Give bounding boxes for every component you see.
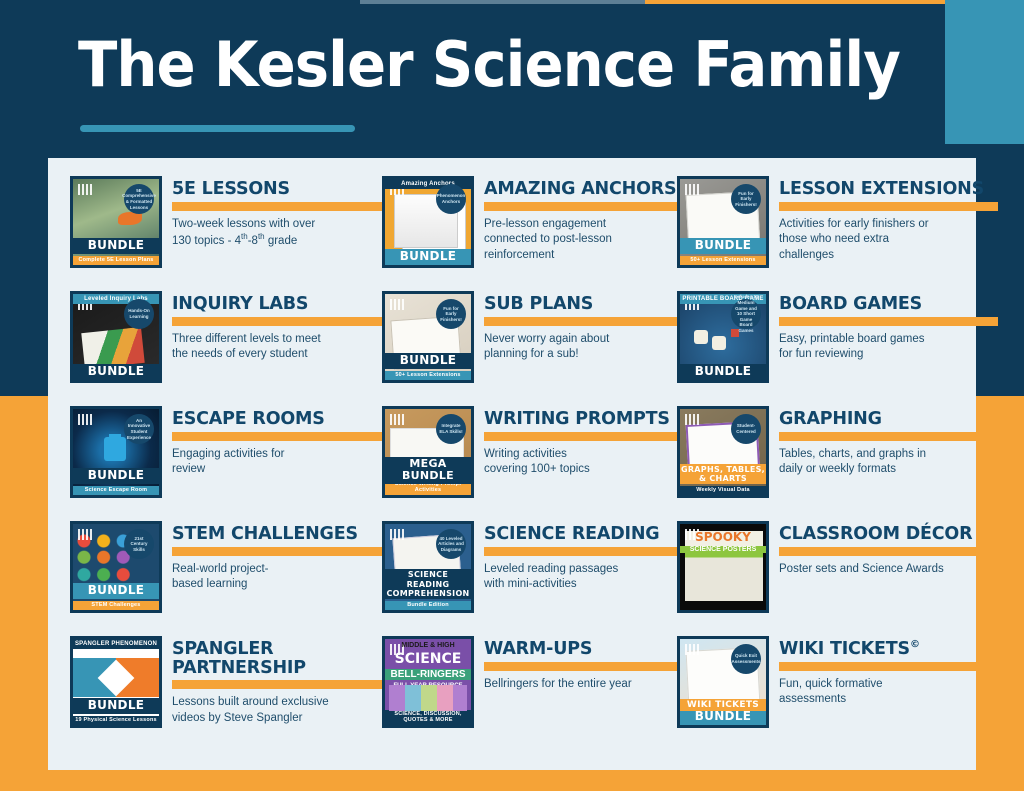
diamond-shape-icon: [98, 659, 135, 696]
product-item[interactable]: Integrate ELA Skills!Science Writing Pro…: [382, 406, 677, 521]
warmup-line-1: MIDDLE & HIGH: [385, 642, 471, 649]
thumbnail-badge: An Innovative Student Experience: [124, 414, 154, 444]
product-item[interactable]: 5E Comprehensive & Formatted LessonsComp…: [70, 176, 382, 291]
product-thumbnail[interactable]: Amazing AnchorsPhenomenon AnchorsBUNDLE: [382, 176, 474, 268]
product-title-rule: [484, 662, 677, 671]
product-item[interactable]: PRINTABLE BOARD GAMEIncludes 10 Medium G…: [677, 291, 998, 406]
kesler-logo-icon: [78, 184, 94, 195]
product-title-rule: [484, 202, 677, 211]
thumbnail-banner: BUNDLE: [385, 249, 471, 265]
product-title-rule: [779, 662, 998, 671]
product-thumbnail[interactable]: Fun for Early Finishers!50+ Lesson Exten…: [677, 176, 769, 268]
product-title: 5E LESSONS: [172, 180, 382, 199]
product-text: WIKI TICKETS©Fun, quick formativeassessm…: [769, 636, 998, 708]
poster-header: The Kesler Science Family: [0, 0, 1024, 158]
product-title: LESSON EXTENSIONS: [779, 180, 998, 199]
product-text: SUB PLANSNever worry again aboutplanning…: [474, 291, 677, 363]
product-thumbnail[interactable]: Fun for Early Finishers!50+ Lesson Exten…: [382, 291, 474, 383]
product-title-rule: [172, 317, 382, 326]
product-item[interactable]: An Innovative Student ExperienceScience …: [70, 406, 382, 521]
product-item[interactable]: Fun for Early Finishers!50+ Lesson Exten…: [677, 176, 998, 291]
kesler-logo-icon: [685, 644, 701, 655]
thumbnail-badge: 21st Century Skills: [124, 529, 154, 559]
products-grid: 5E Comprehensive & Formatted LessonsComp…: [48, 158, 976, 770]
product-item[interactable]: 21st Century SkillsSTEM ChallengesBUNDLE…: [70, 521, 382, 636]
product-item[interactable]: 40 Leveled Articles and DiagramsBundle E…: [382, 521, 677, 636]
thumbnail-banner: BUNDLE: [73, 238, 159, 254]
product-description: Two-week lessons with over130 topics - 4…: [172, 217, 382, 250]
thumbnail-banner: MEGA BUNDLE: [385, 457, 471, 484]
kesler-logo-icon: [685, 184, 701, 195]
products-card: 5E Comprehensive & Formatted LessonsComp…: [48, 158, 976, 770]
product-title: BOARD GAMES: [779, 295, 998, 314]
product-description: Poster sets and Science Awards: [779, 562, 998, 578]
thumbnail-sub-banner: SCIENCE, DISCUSSION, QUOTES & MORE: [385, 710, 471, 725]
thumbnail-badge: Phenomenon Anchors: [436, 184, 466, 214]
thumbnail-banner: BUNDLE: [680, 364, 766, 380]
thumbnail-banner: BUNDLE: [73, 583, 159, 599]
thumbnail-sub-banner: STEM Challenges: [73, 601, 159, 610]
thumbnail-badge: Quick Exit Assessments: [731, 644, 761, 674]
product-title-rule: [484, 432, 677, 441]
product-thumbnail[interactable]: Integrate ELA Skills!Science Writing Pro…: [382, 406, 474, 498]
thumbnail-banner: BUNDLE: [680, 709, 766, 725]
product-title-rule: [779, 547, 998, 556]
product-title-rule: [779, 432, 998, 441]
product-title-rule: [779, 202, 998, 211]
product-title-rule: [172, 547, 382, 556]
product-title: INQUIRY LABS: [172, 295, 382, 314]
product-description: Fun, quick formativeassessments: [779, 677, 998, 708]
thumbnail-badge: Student-Centered: [731, 414, 761, 444]
product-description: Real-world project-based learning: [172, 562, 382, 593]
thumbnail-badge: Includes 10 Medium Game and 10 Short Gam…: [731, 299, 761, 329]
product-title: ESCAPE ROOMS: [172, 410, 382, 429]
product-thumbnail[interactable]: 21st Century SkillsSTEM ChallengesBUNDLE: [70, 521, 162, 613]
thumbnail-sub-banner: Science Escape Room: [73, 486, 159, 495]
product-text: 5E LESSONSTwo-week lessons with over130 …: [162, 176, 382, 249]
decor-subtitle-text: SCIENCE POSTERS: [680, 546, 766, 553]
page-title: The Kesler Science Family: [78, 34, 887, 96]
thumbnail-sub-banner: 19 Physical Science Lessons: [73, 716, 159, 725]
product-text: WRITING PROMPTSWriting activitiescoverin…: [474, 406, 677, 478]
kesler-logo-icon: [685, 414, 701, 425]
warmup-preview-strip: [389, 685, 467, 711]
thumbnail-sub-banner: 50+ Lesson Extensions: [680, 256, 766, 265]
thumbnail-sub-banner: Bundle Edition: [385, 601, 471, 610]
thumbnail-top-label: SPANGLER PHENOMENON: [73, 639, 159, 649]
title-underline: [80, 125, 355, 132]
product-text: LESSON EXTENSIONSActivities for early fi…: [769, 176, 998, 263]
product-description: Pre-lesson engagementconnected to post-l…: [484, 217, 677, 264]
product-title: WARM-UPS: [484, 640, 677, 659]
product-description: Bellringers for the entire year: [484, 677, 677, 693]
product-thumbnail[interactable]: Student-CenteredWeekly Visual DataGRAPHS…: [677, 406, 769, 498]
product-description: Lessons built around exclusivevideos by …: [172, 695, 382, 726]
thumbnail-sub-banner: Weekly Visual Data: [680, 486, 766, 495]
product-title-rule: [172, 202, 382, 211]
thumbnail-banner: BUNDLE: [73, 698, 159, 714]
product-title-rule: [484, 547, 677, 556]
product-title: CLASSROOM DÉCOR: [779, 525, 998, 544]
product-text: GRAPHINGTables, charts, and graphs indai…: [769, 406, 998, 478]
product-thumbnail[interactable]: SPANGLER PHENOMENON19 Physical Science L…: [70, 636, 162, 728]
thumbnail-banner: BUNDLE: [385, 353, 471, 369]
product-title: SUB PLANS: [484, 295, 677, 314]
product-item[interactable]: Leveled Inquiry LabsHands-On LearningBUN…: [70, 291, 382, 406]
thumbnail-banner: BUNDLE: [680, 238, 766, 254]
product-text: WARM-UPSBellringers for the entire year: [474, 636, 677, 692]
product-title-rule: [172, 432, 382, 441]
product-item[interactable]: MIDDLE & HIGHSCIENCEBELL-RINGERSFULL YEA…: [382, 636, 677, 751]
product-title: STEM CHALLENGES: [172, 525, 382, 544]
product-item[interactable]: Student-CenteredWeekly Visual DataGRAPHS…: [677, 406, 998, 521]
product-text: CLASSROOM DÉCORPoster sets and Science A…: [769, 521, 998, 577]
thumbnail-banner: BUNDLE: [73, 468, 159, 484]
product-description: Three different levels to meetthe needs …: [172, 332, 382, 363]
kesler-logo-icon: [390, 299, 406, 310]
product-thumbnail[interactable]: 40 Leveled Articles and DiagramsBundle E…: [382, 521, 474, 613]
product-title: AMAZING ANCHORS: [484, 180, 677, 199]
product-thumbnail[interactable]: MIDDLE & HIGHSCIENCEBELL-RINGERSFULL YEA…: [382, 636, 474, 728]
product-description: Activities for early finishers orthose w…: [779, 217, 998, 264]
product-text: SPANGLER PARTNERSHIPLessons built around…: [162, 636, 382, 726]
product-thumbnail[interactable]: Quick Exit AssessmentsBUNDLEWIKI TICKETS: [677, 636, 769, 728]
thumbnail-sub-banner: 50+ Lesson Extensions: [385, 371, 471, 380]
thumbnail-badge: 5E Comprehensive & Formatted Lessons: [124, 184, 154, 214]
thumbnail-banner: GRAPHS, TABLES, & CHARTS: [680, 464, 766, 484]
product-item[interactable]: Amazing AnchorsPhenomenon AnchorsBUNDLEA…: [382, 176, 677, 291]
poster-root: The Kesler Science Family 5E Comprehensi…: [0, 0, 1024, 791]
thumbnail-badge: 40 Leveled Articles and Diagrams: [436, 529, 466, 559]
kesler-logo-icon: [390, 414, 406, 425]
product-thumbnail[interactable]: 5E Comprehensive & Formatted LessonsComp…: [70, 176, 162, 268]
thumbnail-badge: Fun for Early Finishers!: [436, 299, 466, 329]
product-item[interactable]: Fun for Early Finishers!50+ Lesson Exten…: [382, 291, 677, 406]
warmup-line-2: SCIENCE: [385, 651, 471, 667]
product-item[interactable]: SPANGLER PHENOMENON19 Physical Science L…: [70, 636, 382, 751]
product-description: Engaging activities forreview: [172, 447, 382, 478]
product-title: SPANGLER PARTNERSHIP: [172, 640, 382, 677]
product-title-rule: [484, 317, 677, 326]
product-description: Leveled reading passageswith mini-activi…: [484, 562, 677, 593]
product-description: Tables, charts, and graphs indaily or we…: [779, 447, 998, 478]
thumbnail-badge: Integrate ELA Skills!: [436, 414, 466, 444]
thumbnail-sub-banner: Complete 5E Lesson Plans: [73, 256, 159, 265]
product-thumbnail[interactable]: SPOOKYSCIENCE POSTERS: [677, 521, 769, 613]
thumbnail-mid-banner: WIKI TICKETS: [680, 699, 766, 711]
product-title-rule: [172, 680, 382, 689]
product-thumbnail[interactable]: An Innovative Student ExperienceScience …: [70, 406, 162, 498]
product-text: ESCAPE ROOMSEngaging activities forrevie…: [162, 406, 382, 478]
product-description: Writing activitiescovering 100+ topics: [484, 447, 677, 478]
product-title-rule: [779, 317, 998, 326]
product-thumbnail[interactable]: Leveled Inquiry LabsHands-On LearningBUN…: [70, 291, 162, 383]
product-text: AMAZING ANCHORSPre-lesson engagementconn…: [474, 176, 677, 263]
kesler-logo-icon: [390, 529, 406, 540]
product-item[interactable]: SPOOKYSCIENCE POSTERSCLASSROOM DÉCORPost…: [677, 521, 998, 636]
product-title: WRITING PROMPTS: [484, 410, 677, 429]
product-description: Easy, printable board gamesfor fun revie…: [779, 332, 998, 363]
thumbnail-badge: Hands-On Learning: [124, 299, 154, 329]
product-item[interactable]: Quick Exit AssessmentsBUNDLEWIKI TICKETS…: [677, 636, 998, 751]
product-text: STEM CHALLENGESReal-world project-based …: [162, 521, 382, 593]
kesler-logo-icon: [78, 414, 94, 425]
product-thumbnail[interactable]: PRINTABLE BOARD GAMEIncludes 10 Medium G…: [677, 291, 769, 383]
product-description: Never worry again aboutplanning for a su…: [484, 332, 677, 363]
product-title: SCIENCE READING: [484, 525, 677, 544]
product-text: SCIENCE READINGLeveled reading passagesw…: [474, 521, 677, 593]
product-title: WIKI TICKETS©: [779, 640, 998, 659]
decor-title-text: SPOOKY: [680, 530, 766, 544]
thumbnail-banner: SCIENCE READING COMPREHENSION: [385, 569, 471, 599]
warmup-line-3: BELL-RINGERS: [385, 669, 471, 680]
product-text: BOARD GAMESEasy, printable board gamesfo…: [769, 291, 998, 363]
thumbnail-badge: Fun for Early Finishers!: [731, 184, 761, 214]
kesler-logo-icon: [78, 529, 94, 540]
thumbnail-banner: BUNDLE: [73, 364, 159, 380]
product-title: GRAPHING: [779, 410, 998, 429]
product-text: INQUIRY LABSThree different levels to me…: [162, 291, 382, 363]
